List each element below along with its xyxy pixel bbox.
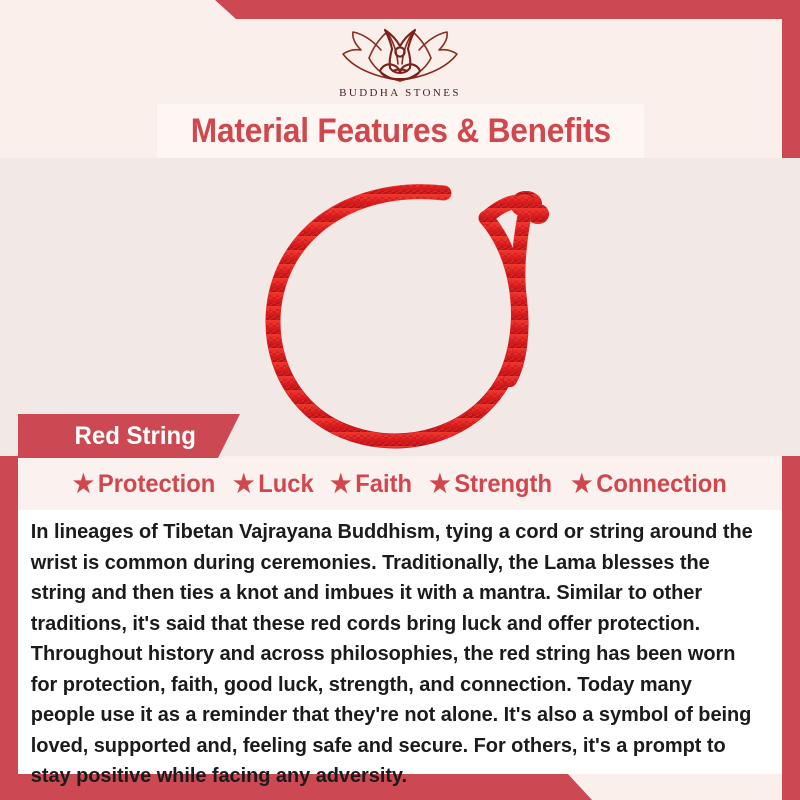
star-icon: ★ xyxy=(429,472,450,497)
title-band: Material Features & Benefits xyxy=(157,104,644,158)
decorative-bar-top xyxy=(0,0,800,19)
feature-label: Protection xyxy=(98,470,215,499)
description-text: In lineages of Tibetan Vajrayana Buddhis… xyxy=(18,510,771,792)
feature-strength: ★ Strength xyxy=(424,470,556,499)
star-icon: ★ xyxy=(233,472,254,497)
description-panel: In lineages of Tibetan Vajrayana Buddhis… xyxy=(18,510,782,774)
star-icon: ★ xyxy=(73,472,94,497)
features-strip: ★ Protection ★ Luck ★ Faith ★ Strength ★… xyxy=(18,458,782,510)
star-icon: ★ xyxy=(571,472,592,497)
brand-header: BUDDHA STONES xyxy=(0,19,800,103)
product-image-panel xyxy=(0,158,800,456)
feature-label: Luck xyxy=(258,470,313,499)
red-braided-string-bracelet xyxy=(248,166,578,456)
brand-name: BUDDHA STONES xyxy=(339,87,461,99)
lotus-meditation-icon xyxy=(325,24,475,86)
feature-label: Connection xyxy=(596,470,727,499)
brand-logo: BUDDHA STONES xyxy=(325,24,475,99)
feature-connection: ★ Connection xyxy=(566,470,731,499)
feature-protection: ★ Protection xyxy=(68,470,220,499)
product-label: Red String xyxy=(75,422,196,451)
feature-faith: ★ Faith xyxy=(325,470,416,499)
star-icon: ★ xyxy=(330,472,351,497)
feature-luck: ★ Luck xyxy=(228,470,318,499)
product-label-banner: Red String xyxy=(18,414,240,458)
poster-root: BUDDHA STONES Material Features & Benefi… xyxy=(0,0,800,800)
feature-label: Faith xyxy=(355,470,412,499)
feature-label: Strength xyxy=(454,470,552,499)
page-title: Material Features & Benefits xyxy=(190,112,610,151)
